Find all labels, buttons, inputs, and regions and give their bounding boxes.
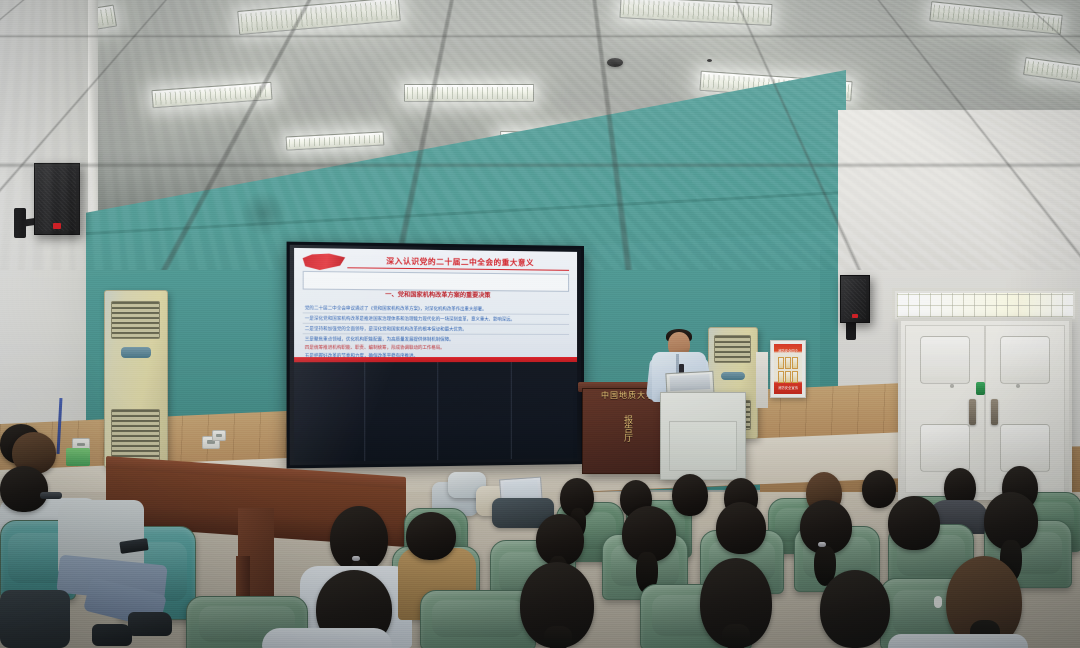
glass-block-panel bbox=[897, 293, 1073, 317]
wall-switch bbox=[212, 430, 226, 441]
earphone-icon bbox=[934, 596, 942, 608]
led-display-screen[interactable]: 深入认识党的二十届二中全会的重大意义 一、党和国家机构改革方案的重要决策 党的二… bbox=[287, 242, 584, 469]
ac-badge bbox=[121, 347, 151, 358]
door-panel bbox=[1000, 424, 1050, 472]
audience-head bbox=[672, 474, 708, 516]
poster-cell bbox=[792, 357, 798, 369]
ac-grill bbox=[714, 335, 751, 363]
left-student-shoe bbox=[128, 612, 172, 636]
poster-cell bbox=[785, 357, 791, 369]
poster-title: 消防安全四个能力 bbox=[777, 348, 799, 355]
eyeglasses-icon bbox=[40, 492, 62, 499]
poster-cell bbox=[778, 371, 784, 383]
left-student-shoe bbox=[92, 624, 132, 646]
door-peephole-icon bbox=[1016, 384, 1020, 388]
seat[interactable] bbox=[420, 590, 536, 648]
poster-cell bbox=[778, 357, 784, 369]
poster-inner: 消防安全四个能力 消防安全宣传栏 bbox=[774, 344, 802, 394]
door-peephole-icon bbox=[950, 384, 954, 388]
audience-head bbox=[716, 502, 766, 554]
door-panel bbox=[1000, 336, 1050, 384]
door-handle-right[interactable] bbox=[991, 399, 998, 425]
door-panel bbox=[920, 336, 970, 384]
slide-highlight-box bbox=[303, 271, 569, 292]
door-transom-window bbox=[892, 288, 1078, 322]
hair-tie bbox=[352, 556, 360, 561]
ceiling-light bbox=[404, 84, 534, 102]
screen-dark-panel bbox=[294, 362, 577, 462]
lecture-hall-photo: 深入认识党的二十届二中全会的重大意义 一、党和国家机构改革方案的重要决策 党的二… bbox=[0, 0, 1080, 648]
audience-shoulders bbox=[262, 628, 392, 648]
audience-head bbox=[820, 570, 890, 648]
slide-bullet: 四是统筹推进机构职能、职责、编制统筹，形成协调联动的工作格局。 bbox=[305, 344, 569, 351]
poster-side-panel bbox=[756, 352, 768, 408]
audience-ponytail bbox=[722, 624, 750, 648]
ac-grill bbox=[111, 301, 159, 339]
slide-bullet: 三是聚焦重点领域，优化机构职能配置，为高质量发展提供体制机制保障。 bbox=[305, 335, 569, 343]
smoke-detector-icon bbox=[607, 58, 623, 67]
speaker-logo-icon bbox=[53, 223, 61, 229]
screen-panel-seam bbox=[437, 362, 438, 460]
poster-cell bbox=[785, 371, 791, 383]
red-flag-icon bbox=[303, 253, 346, 270]
ceiling-sensor-icon bbox=[707, 59, 712, 62]
left-wall-speaker bbox=[34, 163, 80, 235]
audience-shoulders bbox=[888, 634, 1028, 648]
left-student-backpack bbox=[0, 590, 70, 648]
waste-bin bbox=[66, 448, 90, 466]
poster-caption: 消防安全宣传栏 bbox=[777, 385, 799, 392]
hair-tie bbox=[818, 542, 826, 547]
audience-head bbox=[0, 466, 48, 512]
speaker-logo-icon bbox=[852, 314, 858, 318]
screen-panel-seam bbox=[511, 362, 512, 459]
audience-ponytail bbox=[544, 626, 572, 648]
screen-panel-seam bbox=[364, 362, 365, 461]
slide-bullet: 二是坚持和加强党的全面领导，是深化党和国家机构改革的根本保证和最大优势。 bbox=[305, 325, 569, 333]
presentation-slide: 深入认识党的二十届二中全会的重大意义 一、党和国家机构改革方案的重要决策 党的二… bbox=[294, 248, 577, 362]
laptop-screen bbox=[670, 374, 711, 391]
right-wall-speaker bbox=[840, 275, 870, 323]
ac-grill bbox=[111, 409, 159, 461]
audience-head bbox=[406, 512, 456, 560]
slide-subtitle: 一、党和国家机构改革方案的重要决策 bbox=[303, 290, 569, 302]
lectern bbox=[660, 392, 746, 480]
audience-head bbox=[862, 470, 896, 508]
door-panel bbox=[920, 424, 970, 472]
slide-bullet: 一是深化党和国家机构改革是推进国家治理体系和治理能力现代化的一场深刻变革，意义重… bbox=[305, 315, 569, 323]
ac-badge bbox=[721, 372, 745, 380]
lectern-panel bbox=[669, 421, 737, 471]
slide-bullet: 党的二十届二中全会审议通过了《党和国家机构改革方案》，对深化机构改革作出重大部署… bbox=[305, 304, 569, 313]
poster-cell bbox=[792, 371, 798, 383]
left-floor-ac bbox=[104, 290, 168, 468]
wall-stain-mark bbox=[240, 190, 288, 236]
door-latch-icon[interactable] bbox=[976, 382, 985, 395]
poster-pictogram-grid bbox=[778, 357, 798, 383]
podium-hall-name: 报告厅 bbox=[621, 415, 635, 442]
door-handle-left[interactable] bbox=[969, 399, 976, 425]
double-door[interactable] bbox=[898, 318, 1072, 500]
fire-safety-poster: 消防安全四个能力 消防安全宣传栏 bbox=[770, 340, 806, 398]
audience-head bbox=[888, 496, 940, 550]
